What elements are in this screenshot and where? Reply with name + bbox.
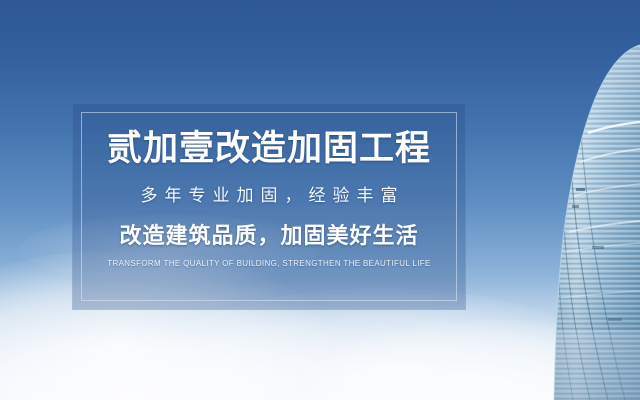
skyscraper-illustration (530, 0, 640, 400)
glass-skyscraper (530, 0, 640, 400)
hero-headline: 贰加壹改造加固工程 (72, 131, 466, 166)
hero-text-block: 贰加壹改造加固工程 多年专业加固，经验丰富 改造建筑品质，加固美好生活 TRAN… (72, 131, 466, 268)
hero-tagline: 多年专业加固，经验丰富 (72, 187, 466, 204)
hero-english-slogan: TRANSFORM THE QUALITY OF BUILDING, STREN… (72, 260, 466, 268)
hero-slogan: 改造建筑品质，加固美好生活 (72, 225, 466, 247)
hero-banner: 贰加壹改造加固工程 多年专业加固，经验丰富 改造建筑品质，加固美好生活 TRAN… (0, 0, 640, 400)
hero-text-panel: 贰加壹改造加固工程 多年专业加固，经验丰富 改造建筑品质，加固美好生活 TRAN… (72, 103, 466, 310)
